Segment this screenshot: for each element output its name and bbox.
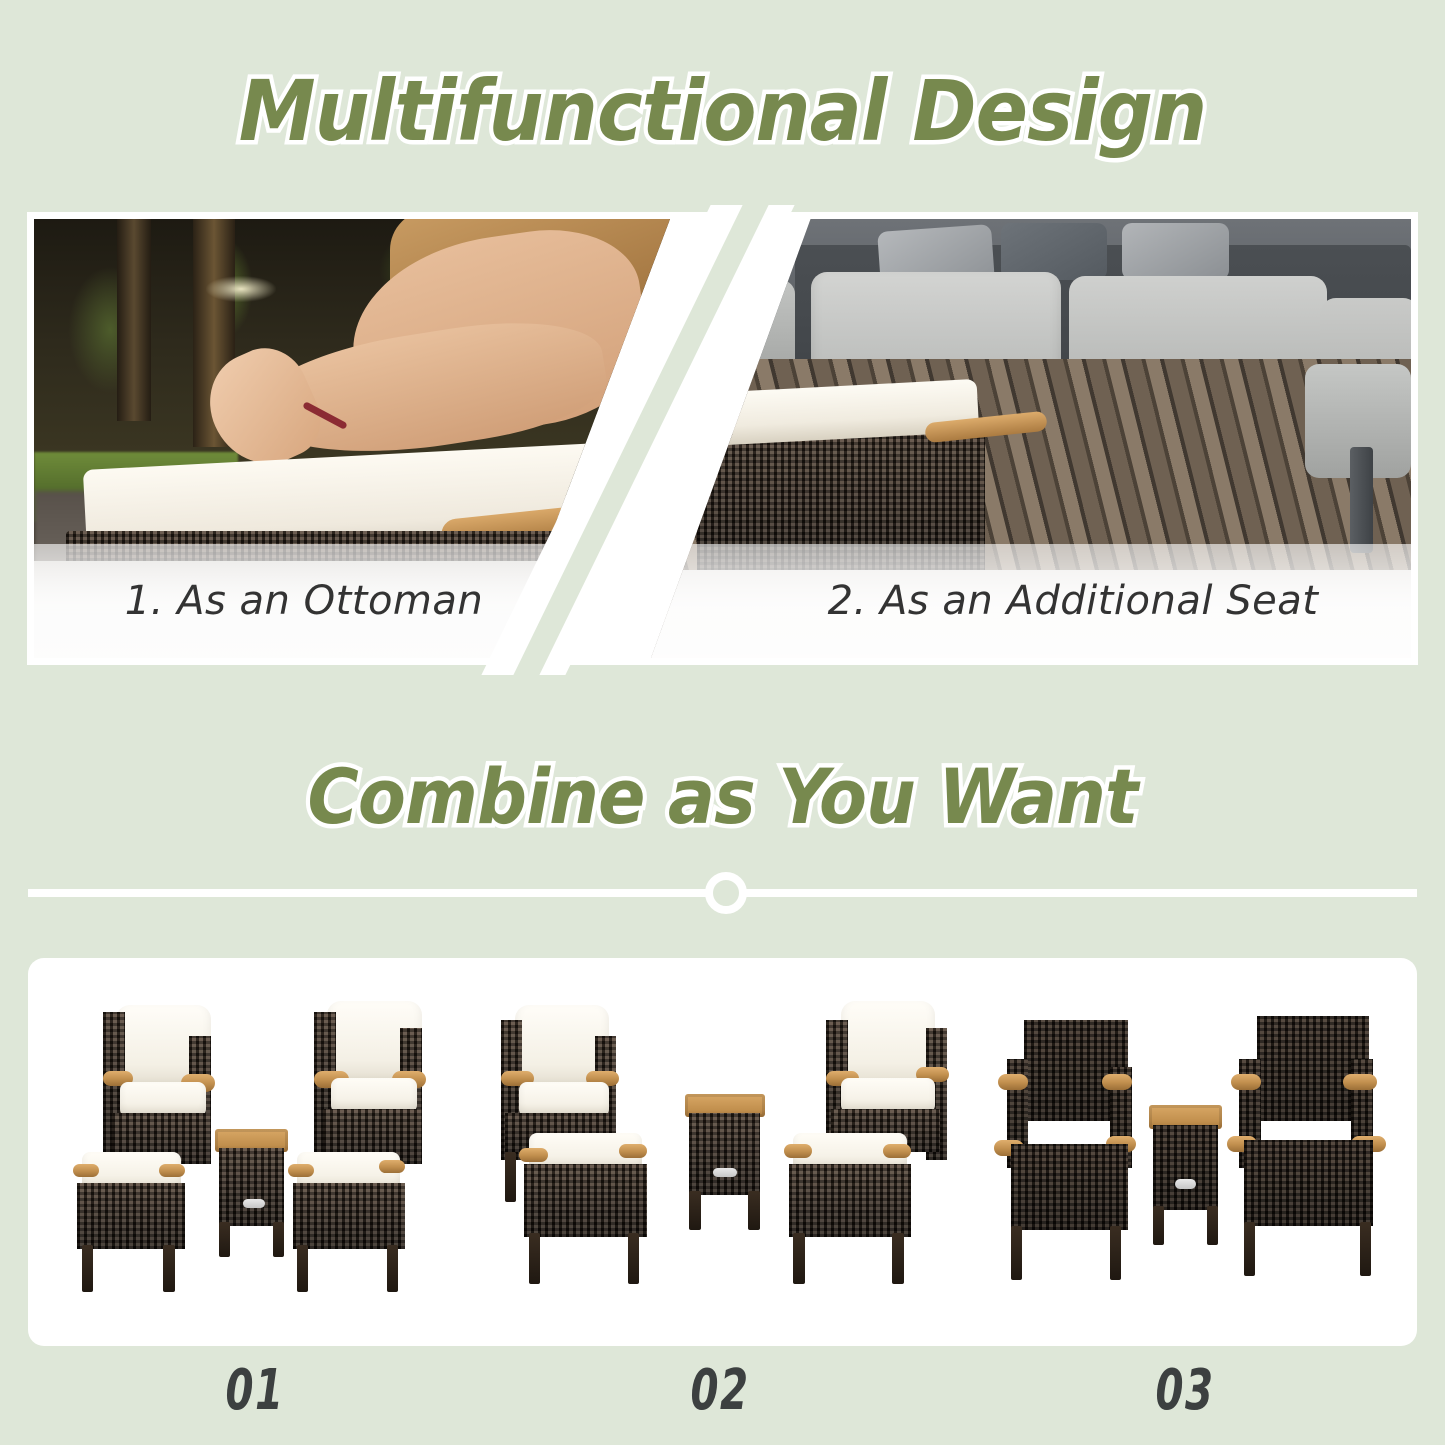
ottoman-leg [82, 1245, 93, 1292]
combination-03-group [973, 958, 1404, 1346]
side-table-leg [1153, 1206, 1163, 1245]
chair-leg [1244, 1222, 1255, 1276]
combination-number-01: 01 [197, 1358, 312, 1423]
ottoman-leg [163, 1245, 174, 1292]
ottoman-wooden-trim [73, 1164, 99, 1178]
side-table-rattan-base [1153, 1125, 1218, 1210]
chair-wooden-armrest [1102, 1074, 1132, 1090]
page-title-multifunctional-design: Multifunctional Design [58, 62, 1387, 160]
ottoman-rattan-body [789, 1164, 912, 1238]
chair-seat-cushion [120, 1082, 206, 1117]
chair-seat-cushion [331, 1078, 417, 1113]
ottoman-wooden-trim [619, 1144, 647, 1158]
chair-leg [1110, 1226, 1121, 1280]
ottoman-wooden-trim [379, 1160, 405, 1174]
side-table-leg [1207, 1206, 1217, 1245]
chair-wooden-armrest [998, 1074, 1028, 1090]
ottoman-wooden-trim [883, 1144, 911, 1158]
brand-badge [713, 1168, 737, 1178]
photo-as-additional-seat: 2. As an Additional Seat [651, 219, 1411, 658]
chair-leg [505, 1152, 515, 1202]
section-title-combine-as-you-want: Combine as You Want [58, 752, 1387, 841]
divider-ring-icon [705, 872, 747, 914]
ottoman-wooden-trim [519, 1148, 547, 1162]
side-table-leg [689, 1191, 700, 1230]
combination-02-group [486, 958, 958, 1346]
chair-wooden-armrest [1231, 1074, 1261, 1090]
ottoman-wooden-trim [784, 1144, 812, 1158]
tree-trunk-left-icon [117, 219, 151, 421]
ottoman-leg [793, 1233, 804, 1283]
ottoman-leg [628, 1233, 639, 1283]
side-table-leg [273, 1222, 283, 1257]
chair-wooden-armrest [1343, 1074, 1377, 1090]
chair-rattan-seat-base [1244, 1140, 1373, 1225]
sofa-leg [1350, 447, 1373, 552]
sofa-pillow-3 [1122, 223, 1228, 280]
combination-01-group [56, 958, 487, 1346]
chair-leg [1360, 1222, 1371, 1276]
chair-seat-cushion [519, 1082, 609, 1117]
combination-showcase-panel [28, 958, 1417, 1346]
brand-badge [1175, 1179, 1197, 1189]
ottoman-rattan-body [293, 1183, 405, 1249]
chair-leg [1011, 1226, 1022, 1280]
ottoman-leg [892, 1233, 903, 1283]
ottoman-rattan-body [77, 1183, 185, 1249]
photo-caption-additional-seat: 2. As an Additional Seat [693, 578, 1411, 624]
combination-number-03: 03 [1127, 1358, 1242, 1423]
ottoman-leg [387, 1245, 398, 1292]
ottoman-leg [529, 1233, 540, 1283]
side-table-rattan-base [219, 1148, 284, 1226]
combination-number-02: 02 [662, 1358, 777, 1423]
ottoman-leg [297, 1245, 308, 1292]
chair-seat-cushion [841, 1078, 935, 1113]
side-table-leg [219, 1222, 229, 1257]
sunlight-glow [206, 276, 276, 302]
ottoman-rattan-body [524, 1164, 647, 1238]
side-table-rattan-base [689, 1113, 760, 1194]
chair-rattan-seat-base [1011, 1144, 1127, 1229]
ottoman-wooden-trim [288, 1164, 314, 1178]
ottoman-wooden-trim [159, 1164, 185, 1178]
brand-badge [243, 1199, 265, 1209]
side-table-leg [748, 1191, 759, 1230]
